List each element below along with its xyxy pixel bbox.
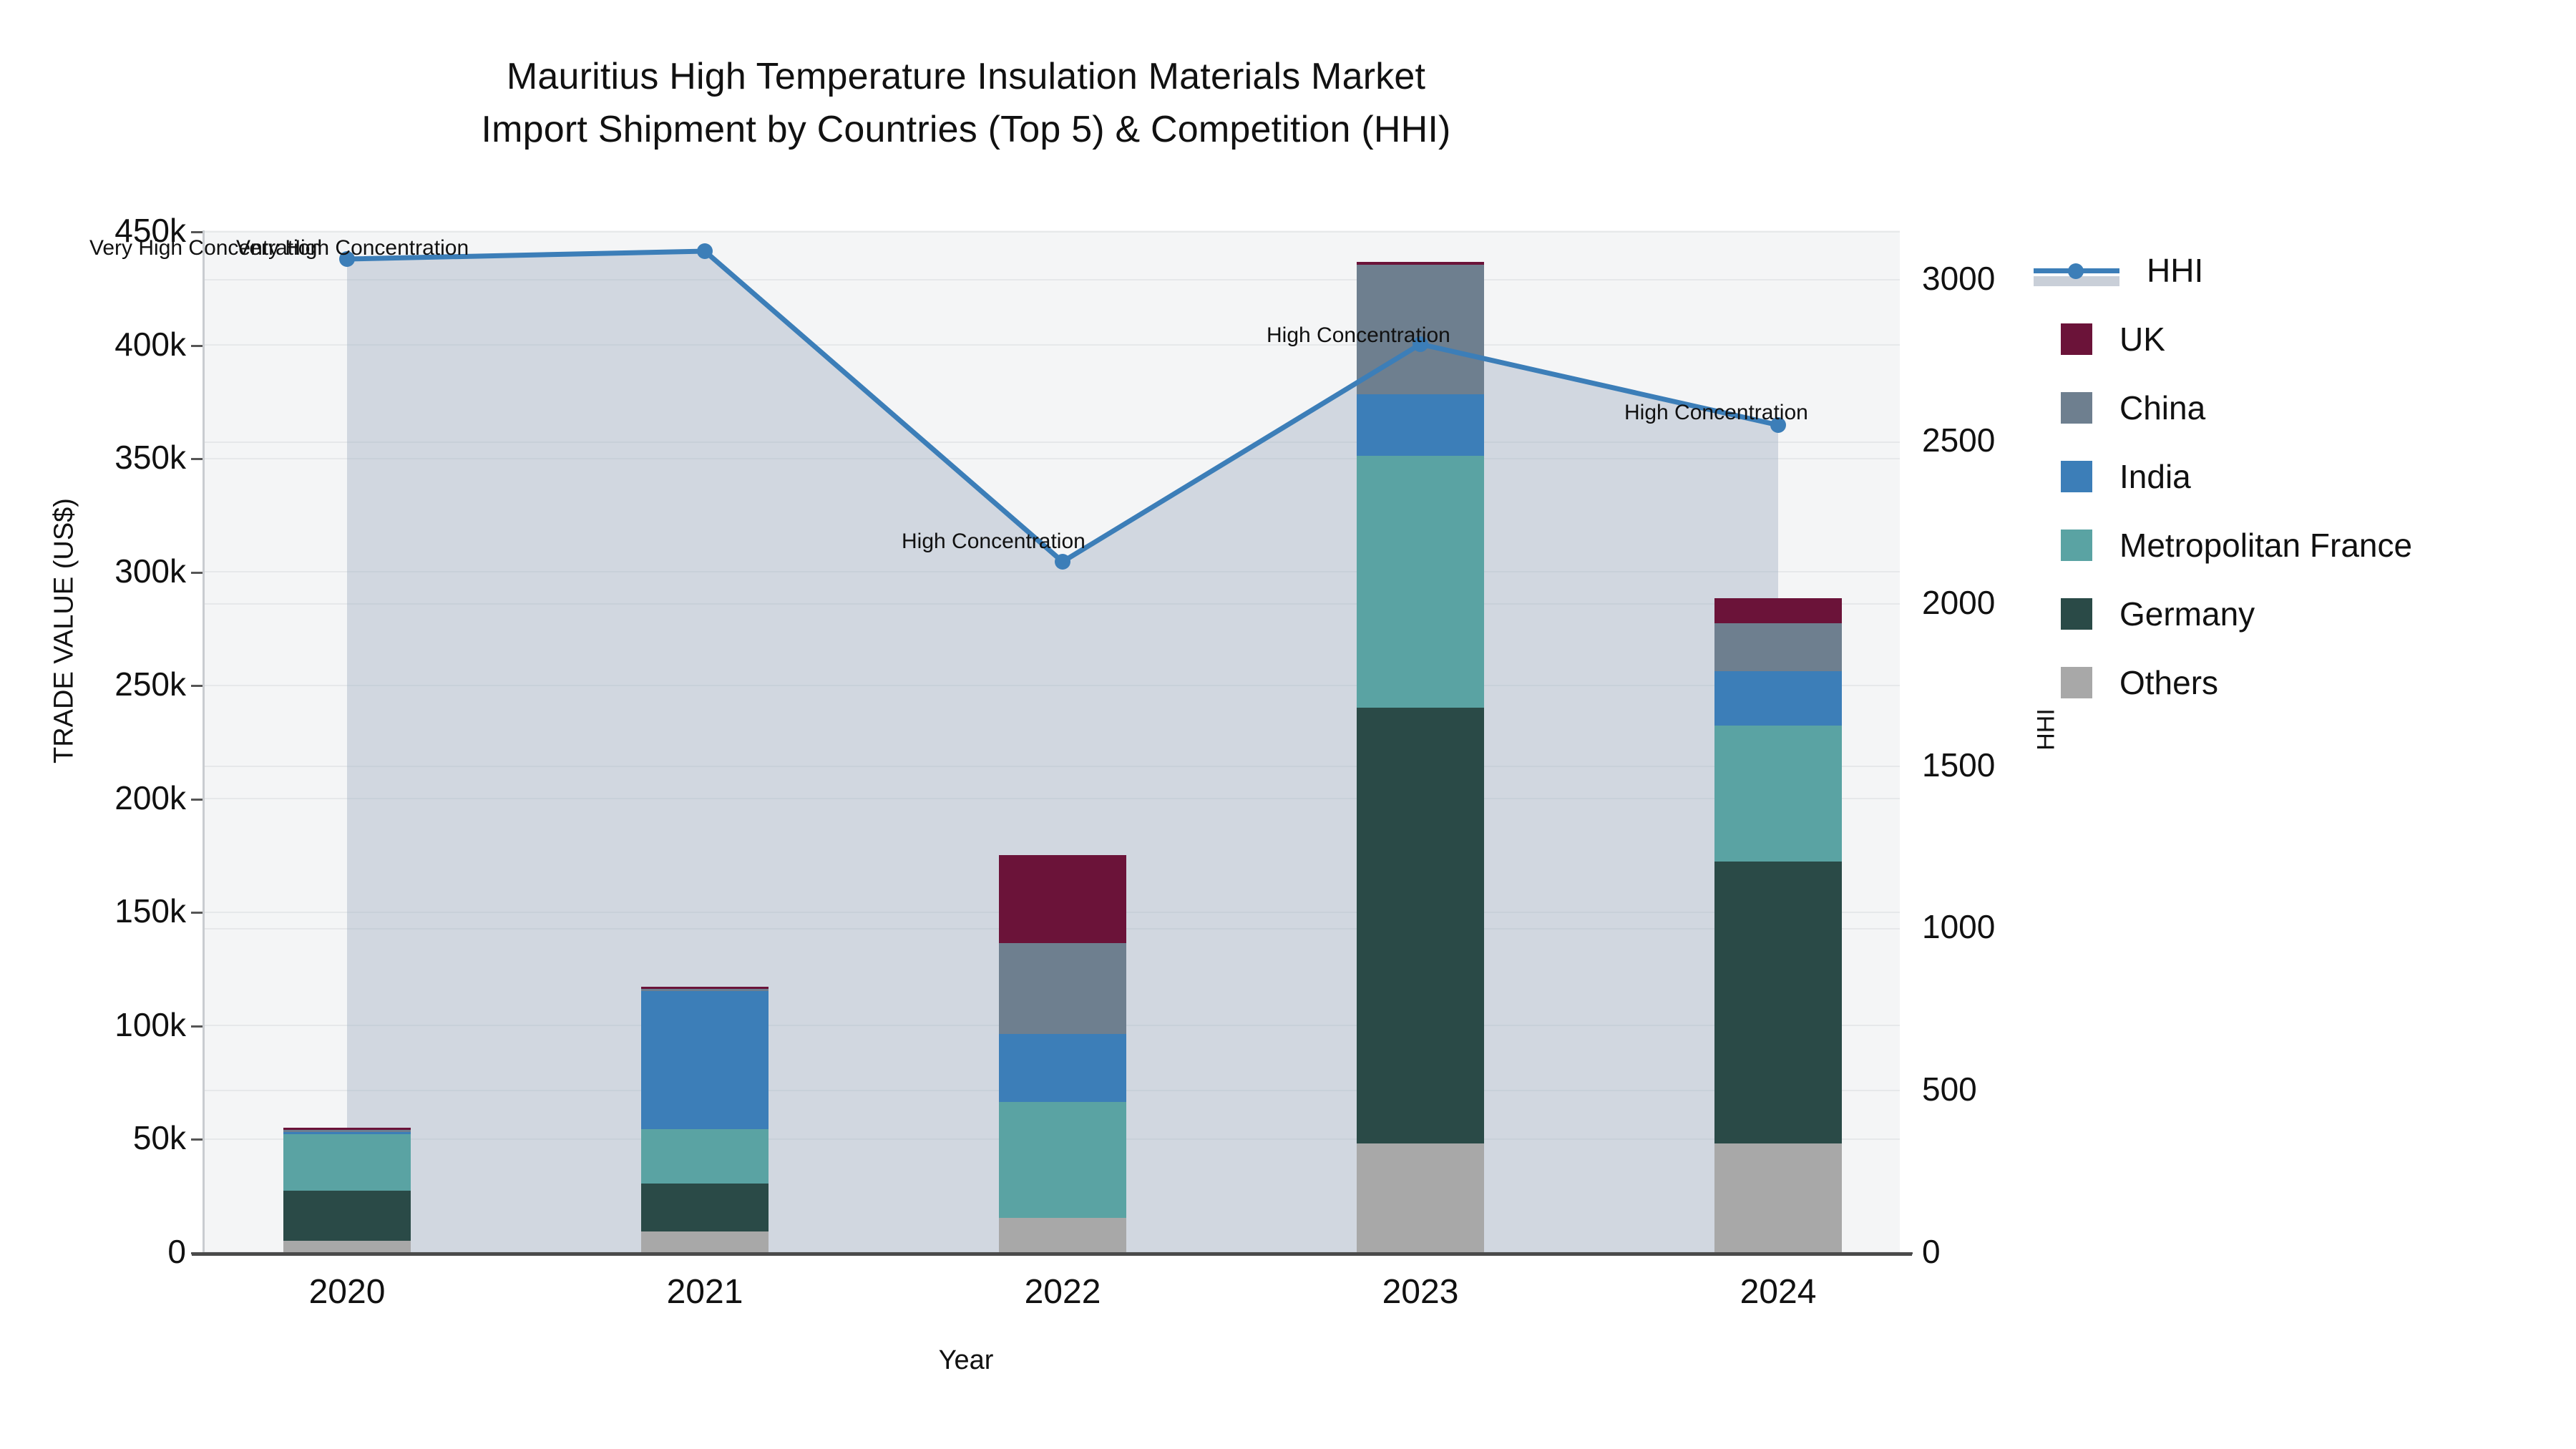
y-left-tick-150k: 150k — [21, 892, 186, 930]
bar-segment-others — [283, 1241, 411, 1252]
bar-segment-india — [999, 1034, 1126, 1102]
legend-item-india[interactable]: India — [2061, 442, 2562, 511]
legend-label-others: Others — [2119, 663, 2218, 702]
y-right-tick-1000: 1000 — [1922, 907, 2087, 946]
hhi-line-icon — [2034, 255, 2119, 286]
bar-segment-uk — [1357, 262, 1484, 265]
y-axis-right-label: HHI — [2033, 623, 2061, 837]
chart-title-line-2: Import Shipment by Countries (Top 5) & C… — [0, 103, 1932, 156]
bar-segment-others — [1357, 1143, 1484, 1252]
bar-segment-uk — [999, 855, 1126, 943]
y-right-tick-0: 0 — [1922, 1232, 2087, 1271]
bar-2023[interactable] — [1357, 262, 1484, 1252]
legend-swatch-germany — [2061, 598, 2092, 630]
chart-container: Mauritius High Temperature Insulation Ma… — [0, 0, 2576, 1449]
chart-title-line-1: Mauritius High Temperature Insulation Ma… — [0, 50, 1932, 103]
annotation-2021-overlay: Very High Concentration — [236, 236, 469, 260]
bar-segment-france — [283, 1134, 411, 1191]
x-tick-2021: 2021 — [597, 1272, 812, 1312]
bar-segment-china — [283, 1130, 411, 1132]
y-right-tick-1500: 1500 — [1922, 746, 2087, 784]
bar-segment-germany — [1714, 862, 1842, 1143]
legend: HHI UK China India Metropolitan France G… — [2061, 236, 2562, 717]
x-tick-2024: 2024 — [1671, 1272, 1885, 1312]
bar-segment-others — [1714, 1143, 1842, 1252]
bar-segment-others — [999, 1218, 1126, 1252]
bar-segment-uk — [283, 1128, 411, 1130]
bar-segment-france — [999, 1102, 1126, 1218]
bar-segment-china — [641, 989, 769, 991]
y-left-tick-0: 0 — [21, 1232, 186, 1271]
legend-label-hhi: HHI — [2147, 251, 2203, 290]
legend-item-others[interactable]: Others — [2061, 648, 2562, 717]
y-left-tick-100k: 100k — [21, 1005, 186, 1044]
legend-swatch-india — [2061, 461, 2092, 492]
legend-label-uk: UK — [2119, 320, 2165, 358]
x-tick-2022: 2022 — [955, 1272, 1170, 1312]
bar-segment-india — [283, 1132, 411, 1134]
bar-segment-germany — [283, 1191, 411, 1241]
bar-segment-france — [641, 1129, 769, 1184]
annotation-2024-overlay: High Concentration — [1624, 401, 1808, 425]
y-axis-left-label: TRADE VALUE (US$) — [49, 381, 80, 882]
bar-segment-china — [999, 943, 1126, 1034]
plot-inner: Very High Concentration Very High Concen… — [204, 230, 1900, 1252]
legend-swatch-uk — [2061, 323, 2092, 355]
y-left-tick-200k: 200k — [21, 779, 186, 817]
legend-label-india: India — [2119, 457, 2191, 496]
y-left-tick-300k: 300k — [21, 552, 186, 590]
annotation-2022-overlay: High Concentration — [902, 530, 1085, 554]
x-tick-2023: 2023 — [1313, 1272, 1528, 1312]
annotation-2023-overlay: High Concentration — [1267, 323, 1450, 348]
bar-segment-china — [1714, 623, 1842, 671]
bar-segment-india — [1714, 671, 1842, 726]
legend-swatch-metropolitan-france — [2061, 530, 2092, 561]
legend-item-metropolitan-france[interactable]: Metropolitan France — [2061, 511, 2562, 580]
bar-segment-germany — [1357, 708, 1484, 1143]
chart-title: Mauritius High Temperature Insulation Ma… — [0, 50, 1932, 156]
bar-2022[interactable] — [999, 855, 1126, 1252]
legend-label-germany: Germany — [2119, 595, 2255, 633]
bar-segment-india — [1357, 394, 1484, 456]
x-axis-line — [192, 1252, 1912, 1256]
x-tick-2020: 2020 — [240, 1272, 454, 1312]
y-left-tick-400k: 400k — [21, 325, 186, 364]
bar-2020[interactable] — [283, 1128, 411, 1252]
legend-item-hhi[interactable]: HHI — [2061, 236, 2562, 305]
legend-label-metropolitan-france: Metropolitan France — [2119, 526, 2412, 565]
legend-item-china[interactable]: China — [2061, 374, 2562, 442]
plot-area: Very High Concentration Very High Concen… — [204, 230, 1900, 1252]
legend-swatch-others — [2061, 667, 2092, 698]
legend-label-china: China — [2119, 389, 2205, 427]
legend-swatch-china — [2061, 392, 2092, 424]
bar-segment-france — [1714, 726, 1842, 862]
y-left-tick-250k: 250k — [21, 665, 186, 703]
legend-item-germany[interactable]: Germany — [2061, 580, 2562, 648]
y-right-tick-500: 500 — [1922, 1070, 2087, 1108]
bar-segment-uk — [1714, 598, 1842, 623]
bar-segment-india — [641, 991, 769, 1129]
x-axis-label: Year — [0, 1345, 1932, 1376]
bar-segment-germany — [641, 1184, 769, 1231]
legend-item-uk[interactable]: UK — [2061, 305, 2562, 374]
bar-2024[interactable] — [1714, 598, 1842, 1252]
bar-2021[interactable] — [641, 987, 769, 1252]
y-left-tick-50k: 50k — [21, 1118, 186, 1157]
bar-segment-uk — [641, 987, 769, 989]
y-left-tick-350k: 350k — [21, 438, 186, 477]
bar-segment-france — [1357, 456, 1484, 708]
bar-segment-others — [641, 1231, 769, 1252]
y-axis-left-line — [203, 230, 205, 1254]
